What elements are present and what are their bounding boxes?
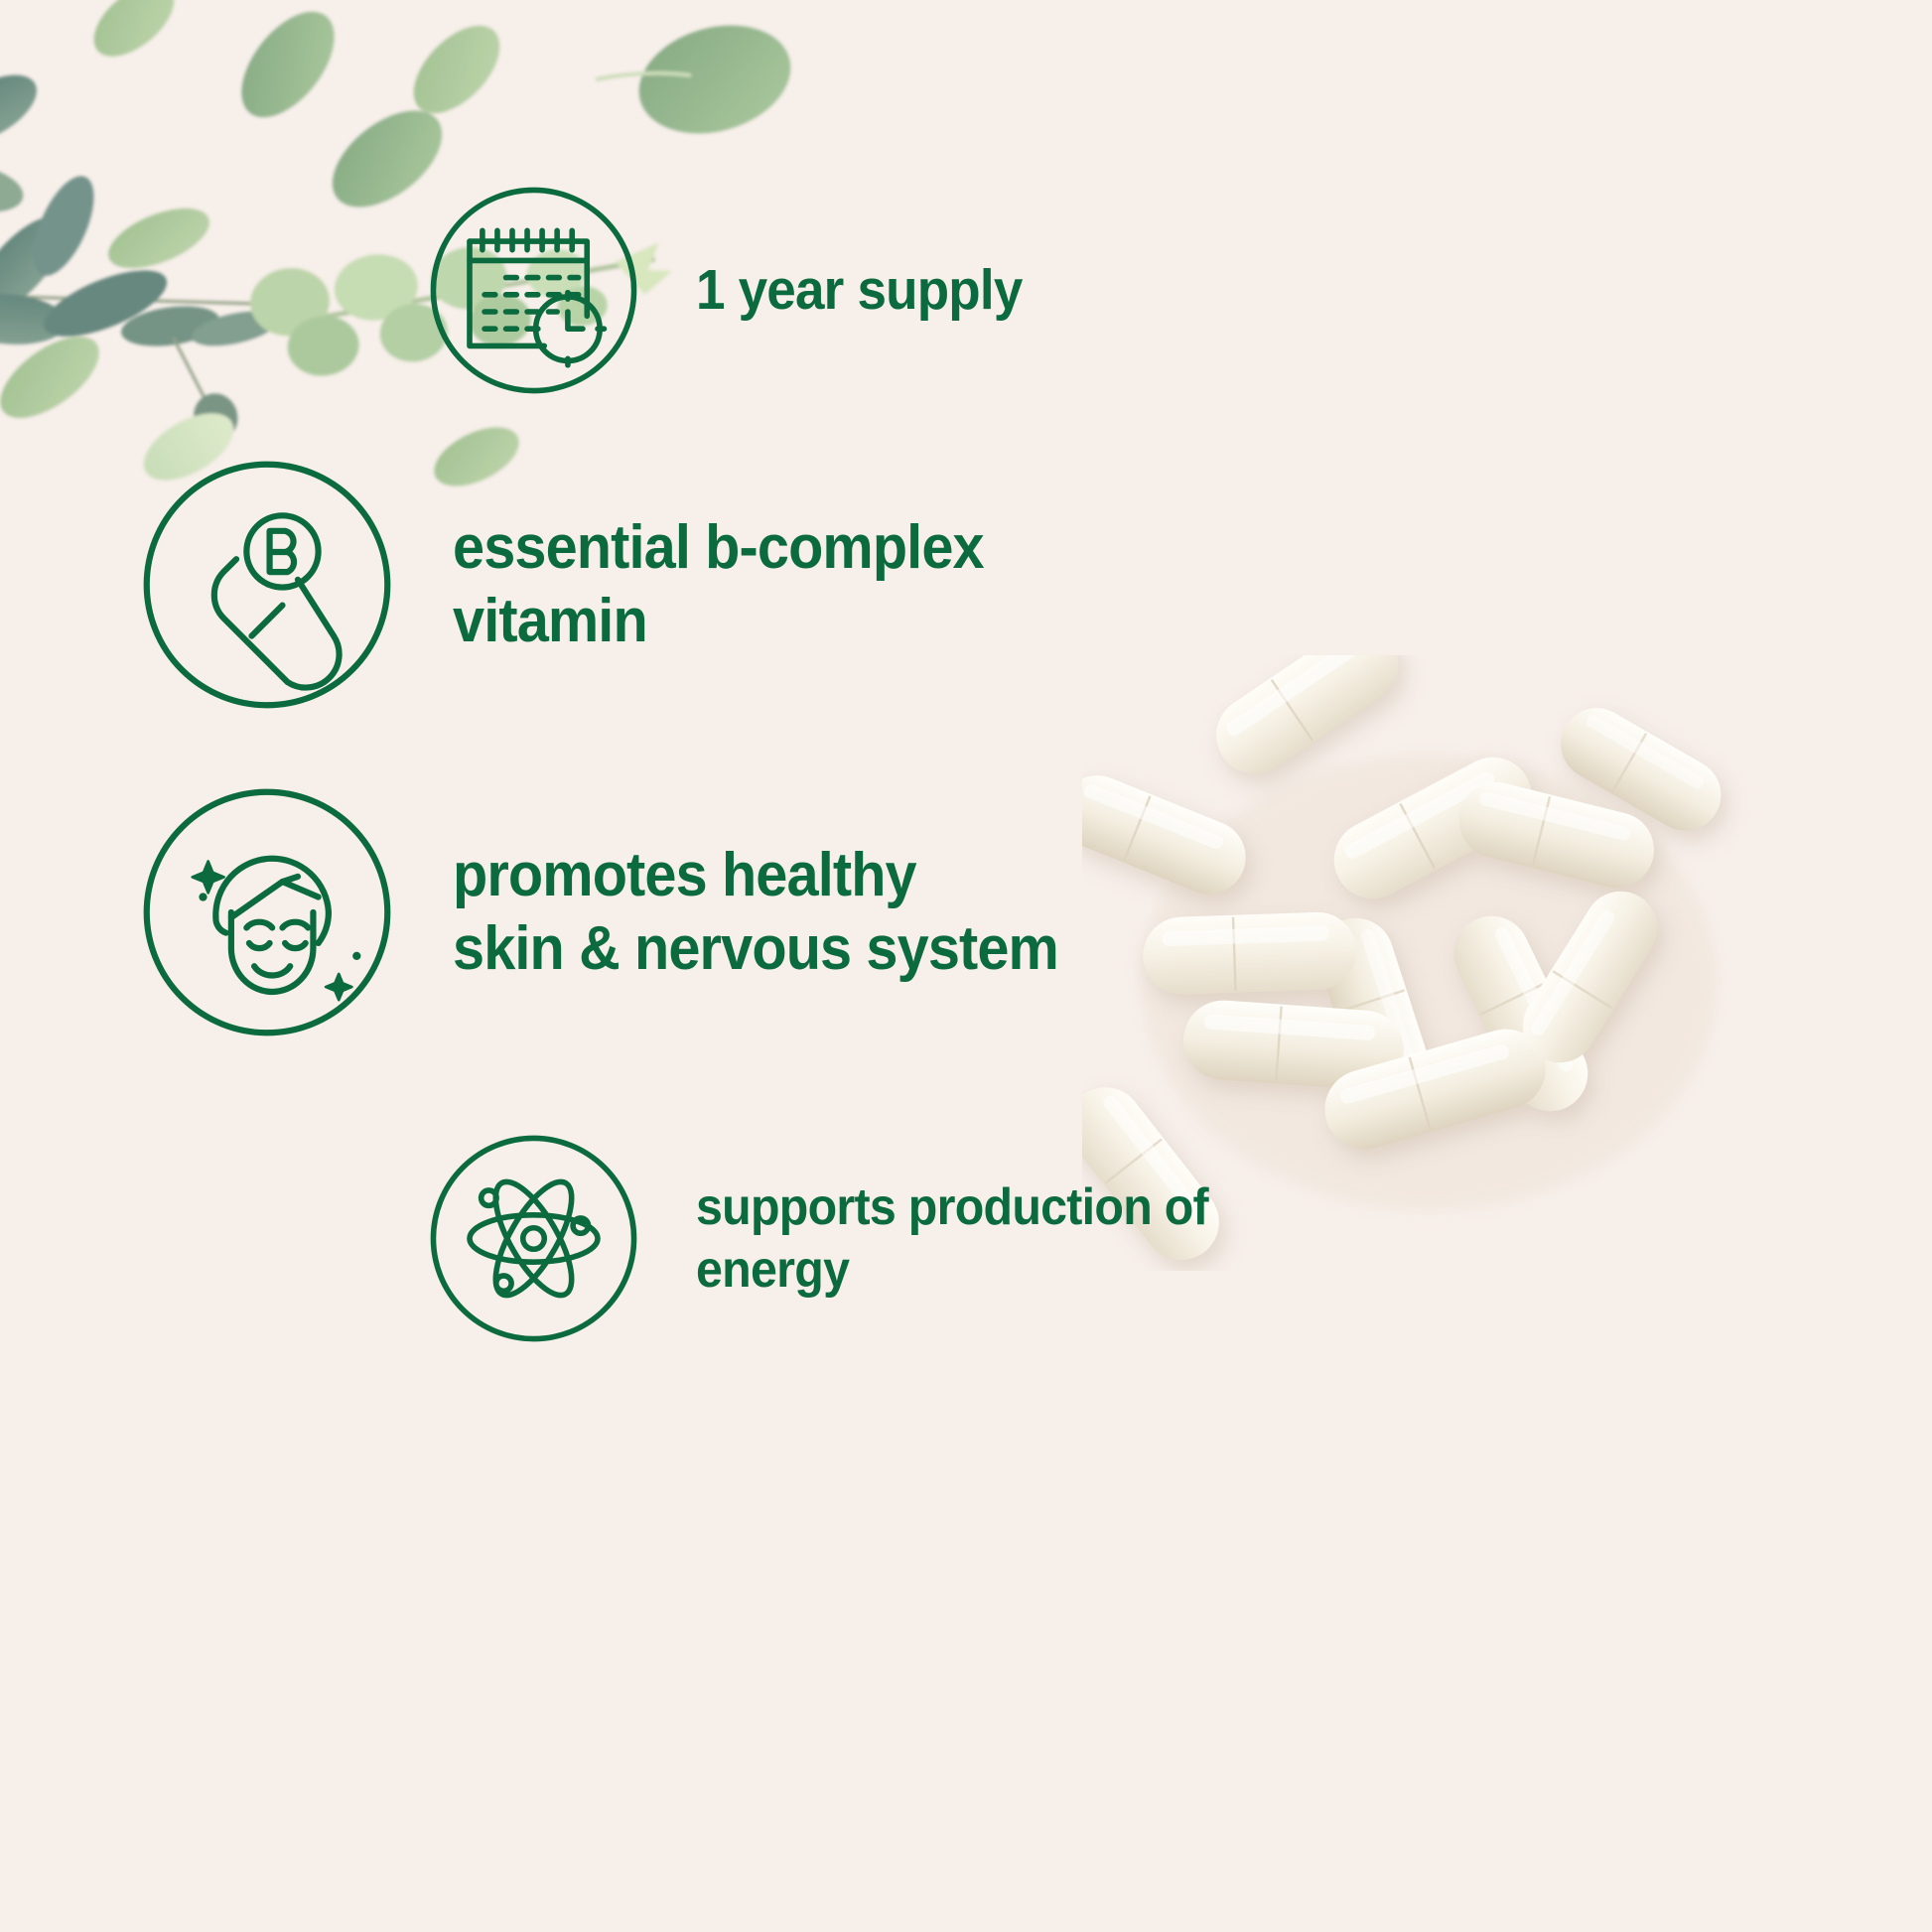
benefit-label-one-year-supply: 1 year supply <box>696 256 1023 324</box>
benefit-row-essential-b-complex: essential b-complex vitamin <box>139 457 1024 713</box>
calendar-clock-icon <box>427 184 640 397</box>
benefit-label-energy-production: supports production of energy <box>696 1176 1208 1301</box>
benefit-label-essential-b-complex: essential b-complex vitamin <box>453 511 984 659</box>
infographic-canvas: 1 year supply essential b-complex vitami… <box>0 0 1932 1932</box>
capsule-b-vitamin-icon <box>139 457 395 713</box>
atom-icon <box>427 1132 640 1345</box>
benefit-row-one-year-supply: 1 year supply <box>427 184 1046 397</box>
face-sparkle-icon <box>139 784 395 1040</box>
benefit-row-energy-production: supports production of energy <box>427 1132 1247 1345</box>
benefit-label-healthy-skin: promotes healthy skin & nervous system <box>453 839 1058 987</box>
benefit-row-healthy-skin: promotes healthy skin & nervous system <box>139 784 1104 1040</box>
